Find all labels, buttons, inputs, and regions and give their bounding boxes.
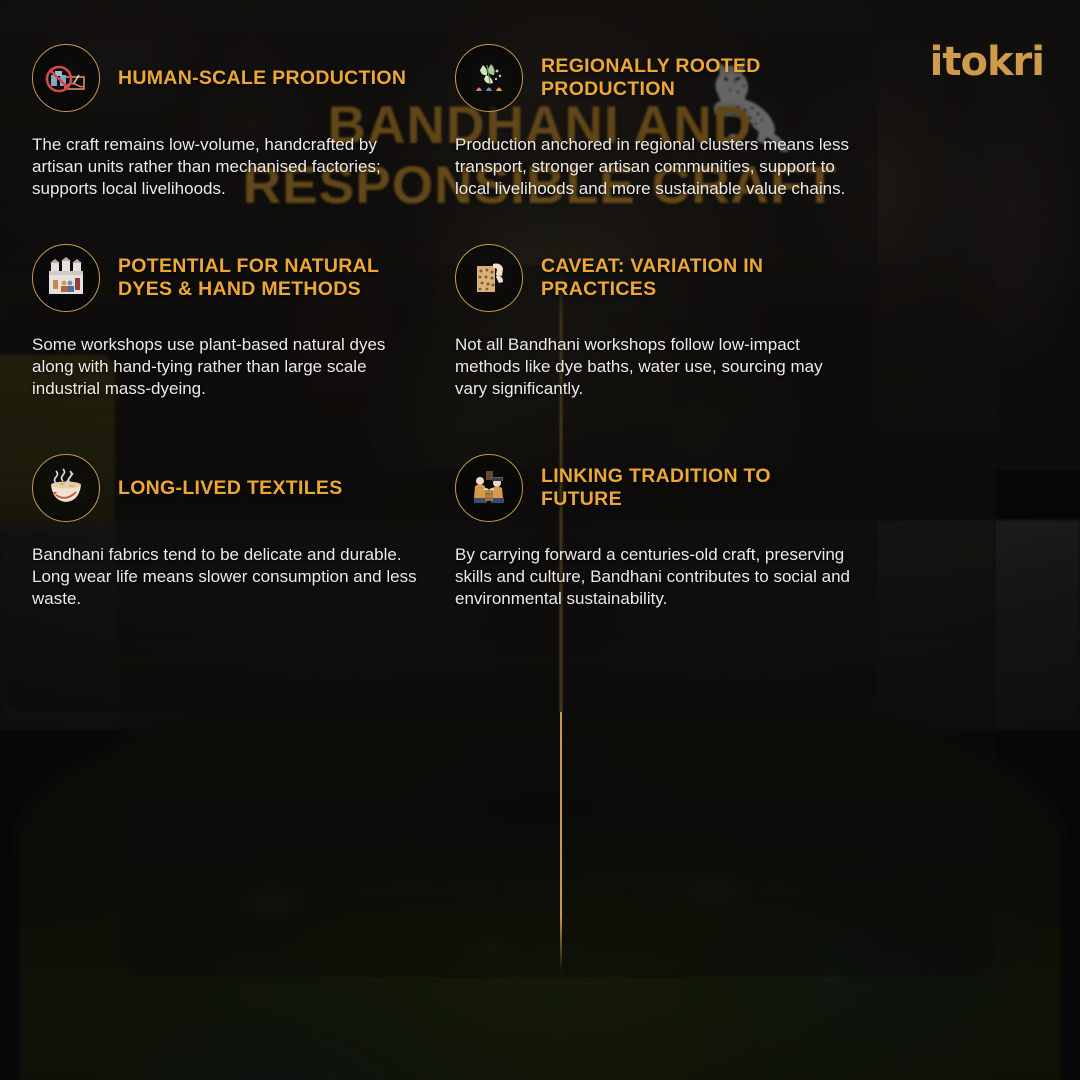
card-title: HUMAN-SCALE PRODUCTION [118,67,406,90]
card-header: CAVEAT: VARIATION IN PRACTICES [455,244,863,312]
leaves-and-dye-powders-icon [455,44,523,112]
infographic-canvas: itokri BANDHANI AND RESPONSIBLE CRAFT [0,0,1080,1080]
card-title: LONG-LIVED TEXTILES [118,477,343,500]
card-long-lived-textiles: LONG-LIVED TEXTILES Bandhani fabrics ten… [32,454,440,610]
hand-holding-patterned-fabric-icon [455,244,523,312]
logo-text: itokri [930,39,1044,85]
cards-grid: HUMAN-SCALE PRODUCTION The craft remains… [0,0,878,712]
card-title: CAVEAT: VARIATION IN PRACTICES [541,255,841,301]
card-regionally-rooted-production: REGIONALLY ROOTED PRODUCTION Production … [455,44,863,200]
card-header: POTENTIAL FOR NATURAL DYES & HAND METHOD… [32,244,440,312]
card-body: Some workshops use plant-based natural d… [32,334,424,400]
card-header: REGIONALLY ROOTED PRODUCTION [455,44,863,112]
card-linking-tradition-to-future: LINKING TRADITION TO FUTURE By carrying … [455,454,863,610]
card-header: LONG-LIVED TEXTILES [32,454,440,522]
card-header: LINKING TRADITION TO FUTURE [455,454,863,522]
card-body: Not all Bandhani workshops follow low-im… [455,334,855,400]
two-artisans-working-icon [455,454,523,522]
card-body: The craft remains low-volume, handcrafte… [32,134,424,200]
card-caveat-variation-in-practices: CAVEAT: VARIATION IN PRACTICES Not all B… [455,244,863,400]
steaming-dye-pot-icon [32,454,100,522]
card-potential-natural-dyes: POTENTIAL FOR NATURAL DYES & HAND METHOD… [32,244,440,400]
card-human-scale-production: HUMAN-SCALE PRODUCTION The craft remains… [32,44,440,200]
card-body: By carrying forward a centuries-old craf… [455,544,855,610]
card-body: Production anchored in regional clusters… [455,134,855,200]
card-title: REGIONALLY ROOTED PRODUCTION [541,55,841,101]
card-title: LINKING TRADITION TO FUTURE [541,465,841,511]
craft-workshop-building-icon [32,244,100,312]
no-factory-workbench-icon [32,44,100,112]
card-title: POTENTIAL FOR NATURAL DYES & HAND METHOD… [118,255,418,301]
card-header: HUMAN-SCALE PRODUCTION [32,44,440,112]
card-body: Bandhani fabrics tend to be delicate and… [32,544,424,610]
itokri-logo[interactable]: itokri [930,42,1044,82]
